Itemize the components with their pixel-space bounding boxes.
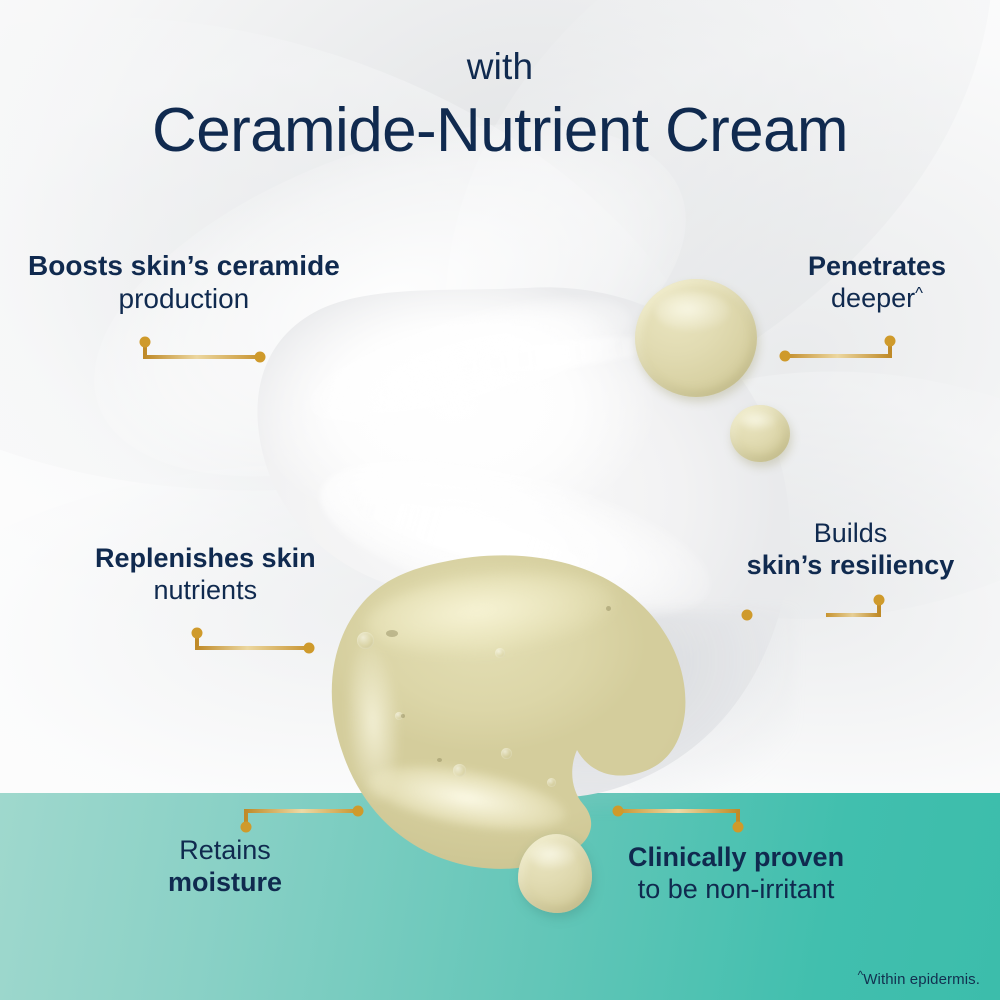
callout-builds-resiliency: Builds skin’s resiliency (718, 518, 983, 581)
callout-penetrates-deeper: Penetrates deeper^ (762, 251, 992, 314)
headline-with: with (0, 48, 1000, 85)
oil-bubble (501, 748, 512, 759)
connector-replenishes-nutrients (190, 627, 320, 655)
callout-retains-moisture: Retains moisture (168, 835, 282, 898)
callout-line-secondary: nutrients (95, 575, 316, 607)
callout-line-primary: Retains (168, 835, 282, 867)
connector-retains-moisture (238, 803, 368, 833)
endpoint-dot (192, 628, 203, 639)
endpoint-dot (874, 595, 885, 606)
callout-line-primary: Penetrates (762, 251, 992, 283)
page-title: with Ceramide-Nutrient Cream (0, 48, 1000, 164)
connector-penetrates-deeper (778, 335, 903, 363)
endpoint-dot (885, 336, 896, 347)
oil-speck (386, 630, 398, 637)
footnote-marker-icon: ^ (915, 283, 923, 302)
callout-line-primary: Boosts skin’s ceramide (28, 250, 340, 283)
callout-line-primary: Builds (718, 518, 983, 550)
callout-line-secondary: to be non-irritant (628, 874, 844, 906)
connector-clinically-proven (610, 803, 755, 833)
callout-line-primary: Clinically proven (628, 842, 844, 874)
callout-line-secondary-text: deeper (831, 283, 915, 313)
infographic-canvas: with Ceramide-Nutrient Cream (0, 0, 1000, 1000)
connector-boosts-ceramide (138, 336, 268, 364)
connector-builds-resiliency-tail (740, 594, 835, 622)
connector-builds-resiliency (826, 594, 896, 622)
callout-line-secondary: moisture (168, 867, 282, 899)
endpoint-dot (780, 351, 791, 362)
headline-product-name: Ceramide-Nutrient Cream (0, 98, 1000, 164)
callout-boosts-ceramide: Boosts skin’s ceramide production (28, 250, 340, 316)
endpoint-dot (733, 822, 744, 833)
callout-line-secondary: deeper^ (762, 283, 992, 315)
callout-replenishes-nutrients: Replenishes skin nutrients (95, 543, 316, 606)
footnote-text: Within epidermis. (863, 971, 980, 988)
oil-bubble (453, 764, 466, 777)
callout-line-secondary: production (28, 283, 340, 316)
oil-droplet-bottom (518, 834, 592, 913)
endpoint-dot (613, 806, 624, 817)
endpoint-dot (241, 822, 252, 833)
oil-bubble (357, 632, 374, 649)
oil-droplet-large (635, 279, 757, 397)
oil-speck (437, 758, 442, 762)
endpoint-dot (742, 610, 753, 621)
oil-droplet-small (730, 405, 790, 462)
endpoint-dot (353, 806, 364, 817)
callout-line-secondary: skin’s resiliency (718, 550, 983, 582)
callout-clinically-proven: Clinically proven to be non-irritant (628, 842, 844, 905)
oil-speck (606, 606, 611, 611)
footnote: ^Within epidermis. (858, 969, 980, 988)
callout-line-primary: Replenishes skin (95, 543, 316, 575)
oil-bubble (495, 648, 505, 658)
endpoint-dot (255, 352, 266, 363)
endpoint-dot (304, 643, 315, 654)
oil-speck (401, 714, 405, 718)
oil-bubble (547, 778, 556, 787)
endpoint-dot (140, 337, 151, 348)
